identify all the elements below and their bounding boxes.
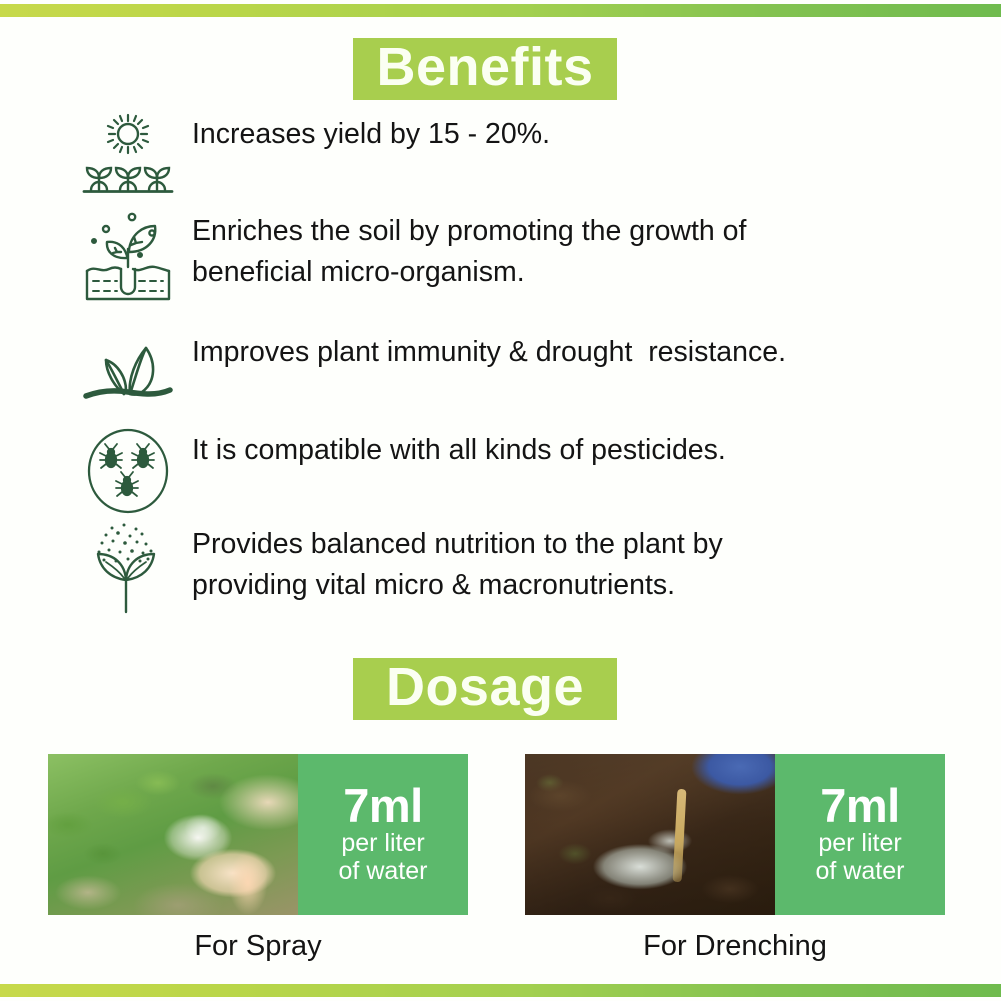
dosage-unit-line-1: per liter [341, 829, 424, 857]
top-accent-stripe [0, 4, 1001, 17]
infographic-poster: Benefits [0, 0, 1001, 1001]
benefit-item: It is compatible with all kinds of pesti… [78, 428, 958, 514]
pouring-stream [673, 789, 687, 883]
dosage-heading-label: Dosage [386, 660, 584, 718]
dosage-unit-line-2: of water [816, 857, 905, 885]
benefit-text: Enriches the soil by promoting the growt… [178, 209, 958, 293]
dosage-heading-badge: Dosage [353, 658, 617, 720]
benefits-heading-badge: Benefits [353, 38, 617, 100]
dosage-amount-panel: 7ml per liter of water [775, 754, 945, 915]
dosage-card-spray: 7ml per liter of water [48, 754, 468, 915]
plant-in-soil-icon [78, 209, 178, 301]
nutrient-sprinkle-plant-icon [78, 522, 178, 614]
benefit-item: Increases yield by 15 - 20%. [78, 112, 958, 196]
sun-over-seedlings-icon [78, 112, 178, 196]
bottom-accent-stripe [0, 984, 1001, 997]
insects-in-circle-icon [78, 428, 178, 514]
dosage-unit-line-2: of water [339, 857, 428, 885]
benefits-heading-label: Benefits [376, 40, 593, 98]
benefit-item: Enriches the soil by promoting the growt… [78, 209, 958, 301]
hand-spraying-plants-photo [48, 754, 298, 915]
dosage-caption-spray: For Spray [48, 930, 468, 963]
dosage-amount: 7ml [820, 783, 900, 829]
dosage-amount-panel: 7ml per liter of water [298, 754, 468, 915]
benefit-text: Improves plant immunity & drought resist… [178, 330, 958, 373]
benefit-text: Increases yield by 15 - 20%. [178, 112, 958, 155]
dosage-unit-line-1: per liter [818, 829, 901, 857]
benefit-text: Provides balanced nutrition to the plant… [178, 522, 958, 606]
dosage-card-drenching: 7ml per liter of water [525, 754, 945, 915]
dosage-amount: 7ml [343, 783, 423, 829]
benefit-item: Provides balanced nutrition to the plant… [78, 522, 958, 614]
two-leaves-icon [78, 330, 178, 408]
benefit-text: It is compatible with all kinds of pesti… [178, 428, 958, 471]
benefit-item: Improves plant immunity & drought resist… [78, 330, 958, 408]
dosage-caption-drenching: For Drenching [525, 930, 945, 963]
watering-can-drenching-soil-photo [525, 754, 775, 915]
